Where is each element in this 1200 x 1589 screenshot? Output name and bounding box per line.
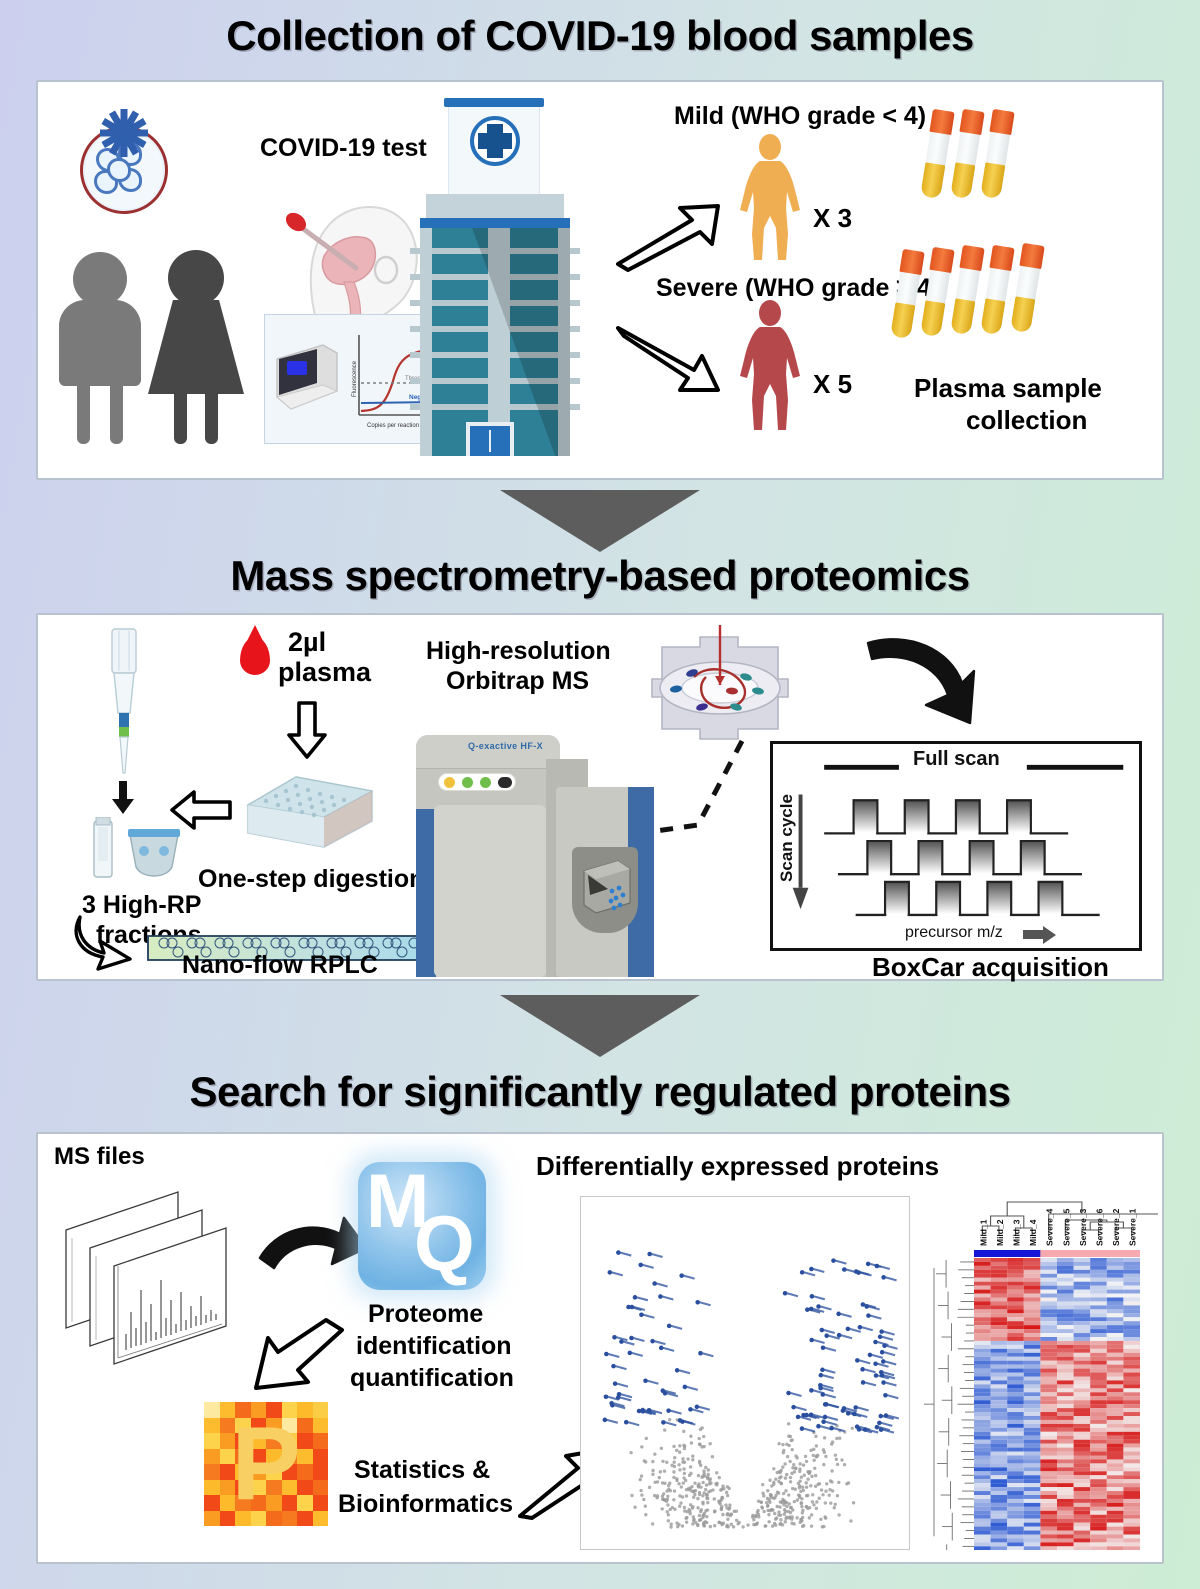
heatmap-column-label: Severe_1	[1128, 1208, 1138, 1246]
pipette-down-arrow-icon	[110, 781, 136, 815]
volcano-plot-title: Differentially expressed proteins	[536, 1152, 939, 1181]
mild-count-label: X 3	[813, 204, 852, 233]
heatmap-column-label: Mild_2	[995, 1219, 1005, 1246]
section-title-analysis: Search for significantly regulated prote…	[0, 1068, 1200, 1116]
flow-arrow-2-icon	[500, 995, 700, 1057]
plasma-collection-label-2: collection	[966, 406, 1087, 435]
hospital-building-icon	[410, 88, 580, 460]
heatmap-column-label: Severe_5	[1061, 1208, 1071, 1246]
coronavirus-icon: /*spikes injected*/	[66, 112, 182, 228]
heatmap-column-label: Mild_4	[1028, 1219, 1038, 1246]
orbitrap-ms-label-1: High-resolution	[426, 637, 611, 665]
boxcar-acquisition-chart: Full scan Scan cycle precursor m/z	[770, 741, 1142, 951]
panel-collection: /*spikes injected*/	[36, 80, 1164, 480]
heatmap-column-label: Mild_1	[978, 1219, 988, 1246]
plasma-tubes-severe	[896, 240, 1086, 350]
pipette-icon	[100, 627, 148, 775]
down-open-arrow-icon	[286, 701, 328, 759]
scan-cycle-label: Scan cycle	[777, 794, 797, 882]
volcano-plot	[580, 1196, 910, 1550]
section-title-proteomics: Mass spectrometry-based proteomics	[0, 552, 1200, 600]
perseus-caption-2: Bioinformatics	[338, 1490, 513, 1518]
male-figure-icon	[58, 252, 142, 442]
plasma-volume-label-1: 2µl	[288, 627, 326, 657]
mq-caption-3: quantification	[350, 1364, 514, 1392]
maxquant-logo-icon: M Q	[358, 1162, 486, 1290]
orbitrap-ms-label-2: Orbitrap MS	[446, 667, 589, 695]
arrow-to-perseus-icon	[234, 1312, 348, 1404]
panel-analysis: MS files	[36, 1132, 1164, 1564]
boxcar-acquisition-label: BoxCar acquisition	[872, 953, 1109, 982]
heatmap-column-label: Severe_2	[1111, 1208, 1121, 1246]
ms-files-label: MS files	[54, 1144, 145, 1171]
plasma-collection-label-1: Plasma sample	[914, 374, 1102, 403]
mass-spectrometer-icon: Q-exactive HF-X	[410, 719, 670, 979]
heatmap-column-label: Mild_3	[1012, 1219, 1022, 1246]
precursor-direction-arrow-icon	[1023, 926, 1057, 944]
mild-group-label: Mild (WHO grade < 4)	[674, 102, 926, 130]
spectrum-stack-icon	[60, 1172, 260, 1382]
mq-letter-q: Q	[414, 1198, 475, 1289]
full-scan-label: Full scan	[913, 748, 1000, 771]
perseus-logo-icon: P	[204, 1402, 328, 1526]
heatmap-column-label: Severe_3	[1078, 1208, 1088, 1246]
mq-caption-2: identification	[356, 1332, 512, 1360]
plasma-volume-label-2: plasma	[278, 657, 371, 687]
arrow-to-mild-icon	[614, 202, 724, 272]
qpcr-machine-icon	[271, 339, 343, 417]
rplc-curved-arrow-icon	[72, 915, 136, 973]
section-title-collection: Collection of COVID-19 blood samples	[0, 12, 1200, 60]
left-open-arrow-icon	[170, 789, 232, 831]
plasma-tubes-mild	[926, 104, 1046, 204]
mq-caption-1: Proteome	[368, 1300, 483, 1328]
curved-arrow-to-boxcar-icon	[864, 635, 980, 731]
flow-arrow-1-icon	[500, 490, 700, 552]
covid-test-label: COVID-19 test	[260, 134, 427, 162]
mild-patient-icon	[738, 134, 802, 266]
severe-count-label: X 5	[813, 370, 852, 399]
heatmap-column-label: Severe_6	[1095, 1208, 1105, 1246]
arrow-to-maxquant-icon	[256, 1208, 370, 1280]
arrow-to-severe-icon	[614, 322, 724, 394]
severe-patient-icon	[738, 300, 802, 436]
one-step-digestion-label: One-step digestion	[198, 865, 424, 893]
perseus-letter-p: P	[204, 1402, 328, 1526]
instrument-model-label: Q-exactive HF-X	[468, 741, 543, 751]
96-well-plate-icon	[244, 765, 376, 851]
blood-droplet-icon	[240, 637, 270, 675]
figure-canvas: Collection of COVID-19 blood samples /*s…	[0, 0, 1200, 1589]
qpcr-ylabel: Fluorescence	[352, 360, 358, 397]
protein-heatmap: Mild_1Mild_2Mild_3Mild_4Severe_4Severe_5…	[918, 1140, 1158, 1550]
heatmap-column-label: Severe_4	[1045, 1208, 1055, 1246]
nano-flow-rplc-label: Nano-flow RPLC	[182, 951, 378, 979]
perseus-caption-1: Statistics &	[354, 1456, 490, 1484]
panel-proteomics: 3 High-RP fractions 2µl plasma One-s	[36, 613, 1164, 981]
female-figure-icon	[148, 250, 244, 442]
precursor-mz-label: precursor m/z	[905, 924, 1003, 942]
